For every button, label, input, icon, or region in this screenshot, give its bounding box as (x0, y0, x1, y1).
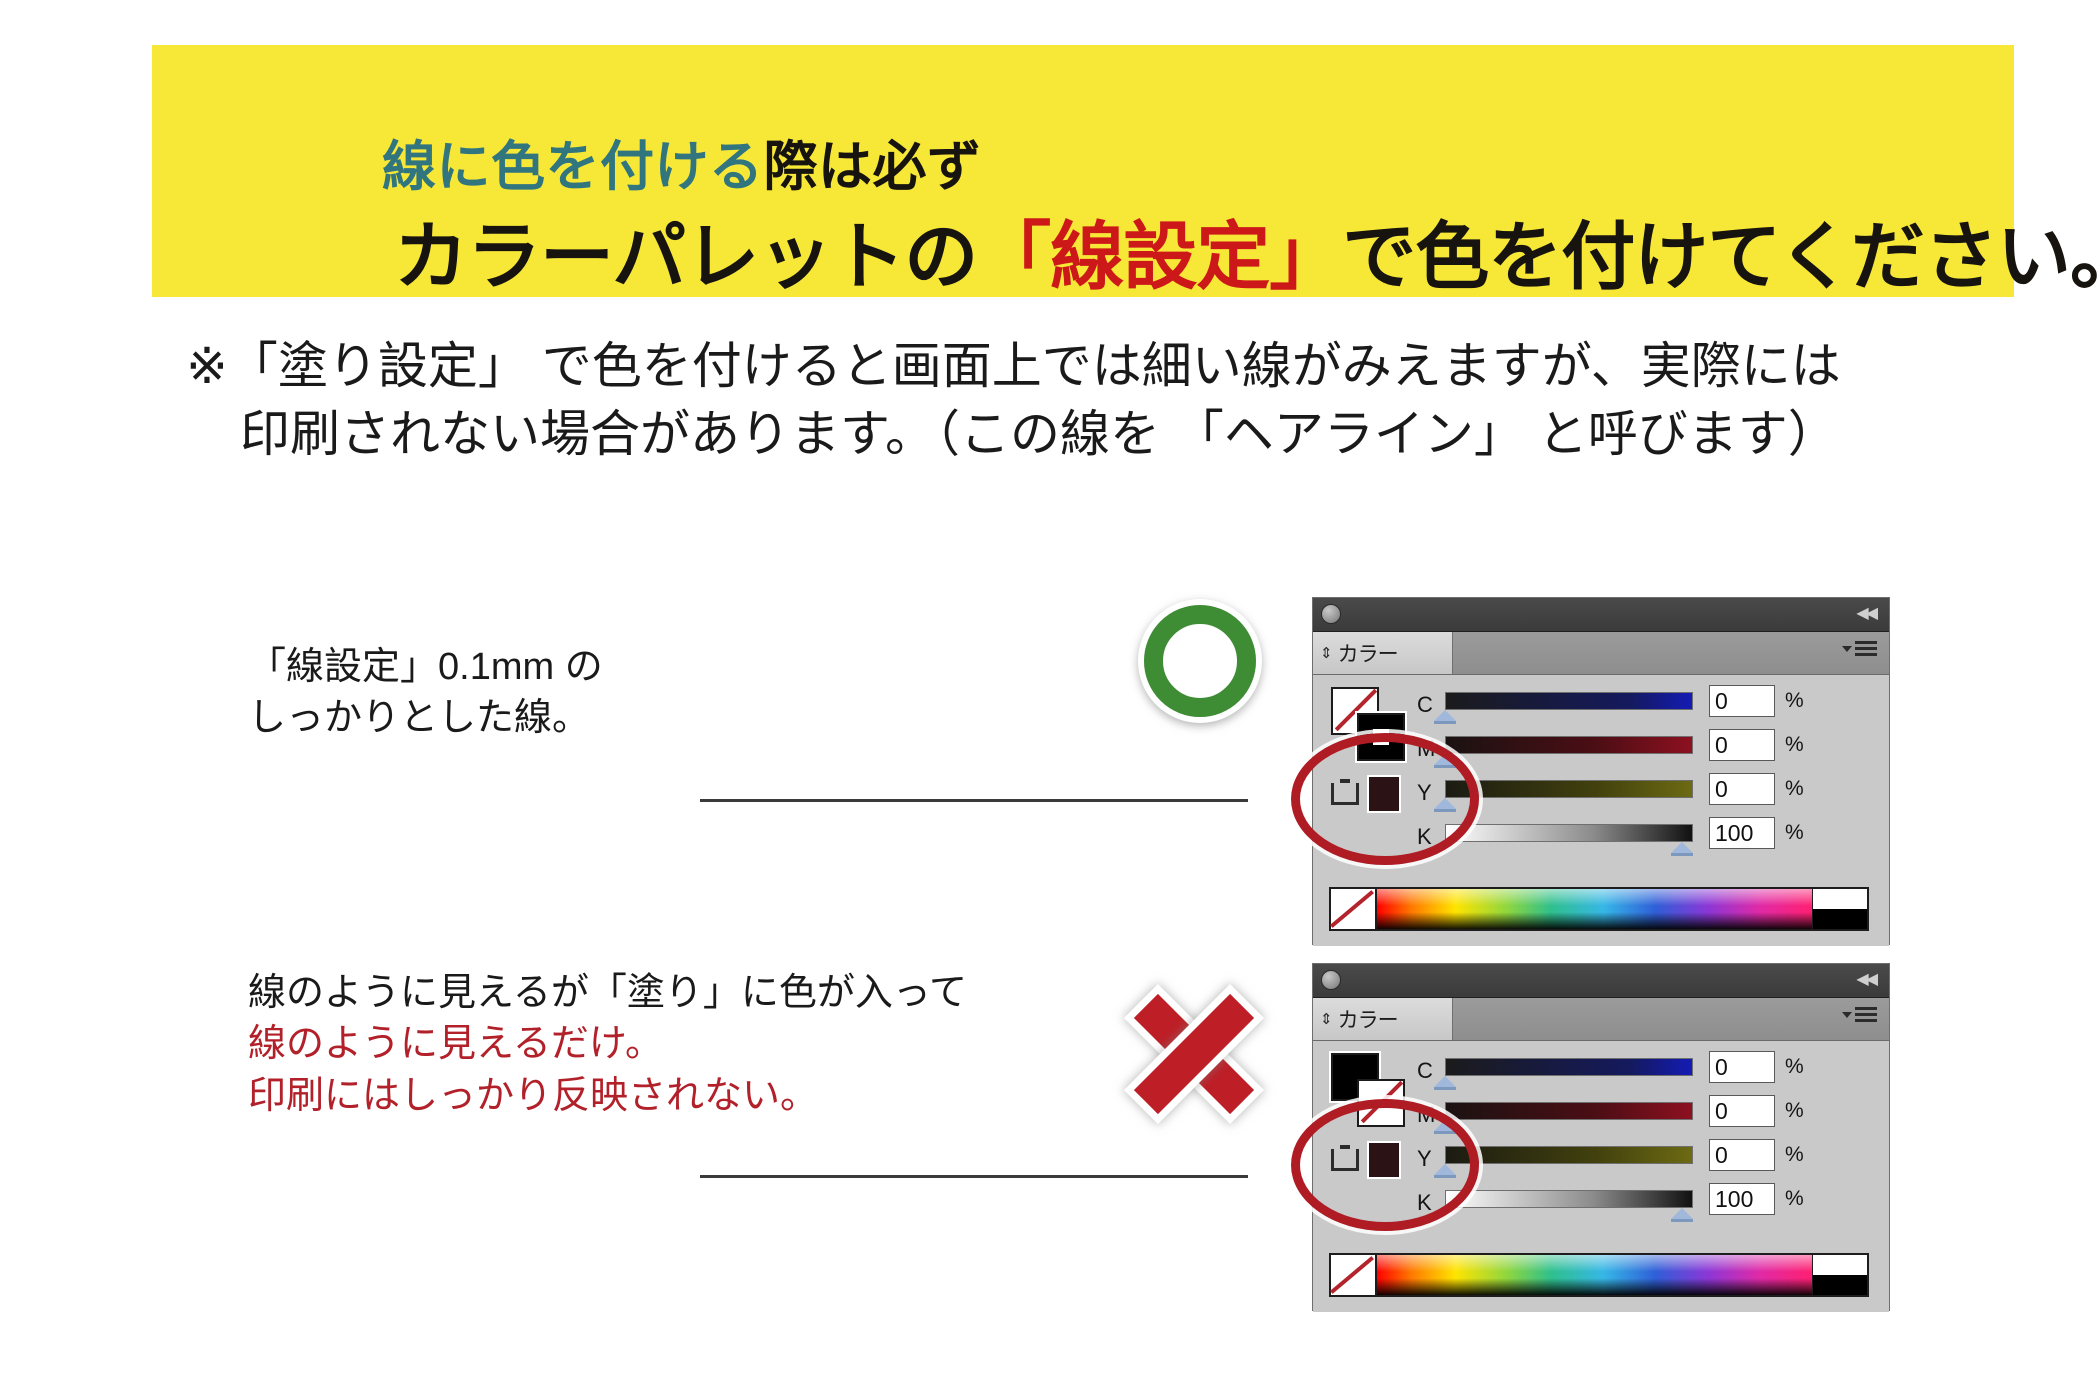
slider-track-y[interactable] (1445, 1146, 1693, 1164)
header-banner: 線に色を付ける際は必ず カラーパレットの「線設定」で色を付けてください。 (152, 45, 2014, 297)
slider-thumb-y[interactable] (1434, 798, 1456, 809)
slider-value-m[interactable]: 0 (1709, 729, 1775, 761)
fill-stroke-swatches[interactable] (1331, 687, 1413, 769)
slider-thumb-k[interactable] (1671, 1208, 1693, 1219)
example-1-desc-line-1: 「線設定」0.1mm の (248, 642, 603, 693)
example-2-sample-line (700, 1175, 1248, 1178)
note-line-2: 印刷されない場合があります。（この線を 「ヘアライン」 と呼びます） (186, 400, 1986, 468)
slider-label-m: M (1417, 1102, 1435, 1128)
slider-row-m[interactable]: M 0 % (1417, 733, 1869, 777)
slider-unit-c: % (1785, 1055, 1804, 1079)
slider-unit-k: % (1785, 1187, 1804, 1211)
banner-headline-large: カラーパレットの「線設定」で色を付けてください。 (394, 220, 2100, 294)
tab-color[interactable]: ⇕ カラー (1313, 998, 1453, 1040)
slider-unit-m: % (1785, 1099, 1804, 1123)
slider-label-c: C (1417, 692, 1433, 718)
slider-value-m[interactable]: 0 (1709, 1095, 1775, 1127)
slider-track-m[interactable] (1445, 736, 1693, 754)
slider-row-c[interactable]: C 0 % (1417, 689, 1869, 733)
slider-row-c[interactable]: C 0 % (1417, 1055, 1869, 1099)
none-swatch-icon[interactable] (1331, 1145, 1359, 1173)
slider-label-y: Y (1417, 780, 1432, 806)
slider-label-y: Y (1417, 1146, 1432, 1172)
tab-color-label: カラー (1338, 1004, 1398, 1034)
slider-track-m[interactable] (1445, 1102, 1693, 1120)
fill-stroke-swatches[interactable] (1331, 1053, 1413, 1135)
example-2-desc-line-2: 線のように見えるだけ。 (248, 1019, 967, 1070)
slider-thumb-m[interactable] (1434, 1120, 1456, 1131)
hamburger-icon (1855, 641, 1877, 656)
slider-value-y[interactable]: 0 (1709, 1139, 1775, 1171)
slider-label-c: C (1417, 1058, 1433, 1084)
tab-color[interactable]: ⇕ カラー (1313, 632, 1453, 674)
slider-value-k[interactable]: 100 (1709, 817, 1775, 849)
banner-headline-black-segment: 際は必ず (764, 137, 982, 197)
slider-track-y[interactable] (1445, 780, 1693, 798)
slider-track-c[interactable] (1445, 1058, 1693, 1076)
banner-large-red-segment: 「線設定」 (977, 215, 1342, 298)
slider-thumb-c[interactable] (1434, 710, 1456, 721)
panel-tab-bar[interactable]: ⇕ カラー (1313, 998, 1889, 1041)
slider-thumb-k[interactable] (1671, 842, 1693, 853)
chevron-down-icon (1842, 1012, 1852, 1018)
color-panel-stroke[interactable]: ◀◀ ⇕ カラー C 0 % M (1312, 597, 1890, 945)
slider-unit-y: % (1785, 777, 1804, 801)
slider-label-k: K (1417, 824, 1432, 850)
panel-title-bar[interactable]: ◀◀ (1313, 964, 1889, 998)
spectrum-ramp[interactable] (1377, 1255, 1812, 1295)
slider-track-c[interactable] (1445, 692, 1693, 710)
note-line-1: ※「塗り設定」 で色を付けると画面上では細い線がみえますが、実際には (186, 332, 1986, 400)
ng-cross-icon (1130, 990, 1258, 1118)
swatch-mini-icons[interactable] (1331, 1141, 1421, 1179)
example-2-description: 線のように見えるが「塗り」に色が入って 線のように見えるだけ。 印刷にはしっかり… (248, 968, 967, 1122)
slider-row-y[interactable]: Y 0 % (1417, 777, 1869, 821)
example-1-description: 「線設定」0.1mm の しっかりとした線。 (248, 642, 603, 745)
chevron-down-icon (1842, 646, 1852, 652)
collapse-double-arrow-icon[interactable]: ◀◀ (1856, 606, 1875, 622)
color-panel-fill[interactable]: ◀◀ ⇕ カラー C 0 % M (1312, 963, 1890, 1311)
spectrum-none-swatch[interactable] (1331, 1255, 1377, 1295)
slider-label-k: K (1417, 1190, 1432, 1216)
slider-row-m[interactable]: M 0 % (1417, 1099, 1869, 1143)
ok-ring-icon (1144, 605, 1256, 717)
spectrum-none-swatch[interactable] (1331, 889, 1377, 929)
example-1-desc-line-2: しっかりとした線。 (248, 693, 603, 744)
none-swatch-icon[interactable] (1331, 779, 1359, 807)
hamburger-icon (1855, 1007, 1877, 1022)
color-spectrum-bar[interactable] (1329, 1253, 1869, 1297)
stroke-swatch-none[interactable] (1357, 1079, 1405, 1127)
color-spectrum-bar[interactable] (1329, 887, 1869, 931)
panel-body: C 0 % M 0 % Y 0 % K 100 % (1313, 1041, 1889, 1312)
slider-value-c[interactable]: 0 (1709, 1051, 1775, 1083)
last-color-swatch-icon[interactable] (1367, 1141, 1401, 1179)
slider-thumb-c[interactable] (1434, 1076, 1456, 1087)
slider-thumb-y[interactable] (1434, 1164, 1456, 1175)
slider-unit-y: % (1785, 1143, 1804, 1167)
updown-arrows-icon: ⇕ (1320, 1012, 1333, 1027)
banner-large-segment-b: で色を付けてください。 (1342, 215, 2100, 298)
note-paragraph: ※「塗り設定」 で色を付けると画面上では細い線がみえますが、実際には 印刷されな… (186, 332, 1986, 468)
slider-unit-k: % (1785, 821, 1804, 845)
slider-row-k[interactable]: K 100 % (1417, 1187, 1869, 1231)
example-2-desc-line-1: 線のように見えるが「塗り」に色が入って (248, 968, 967, 1019)
slider-value-y[interactable]: 0 (1709, 773, 1775, 805)
slider-unit-m: % (1785, 733, 1804, 757)
spectrum-white-black-swatches[interactable] (1812, 889, 1867, 929)
collapse-double-arrow-icon[interactable]: ◀◀ (1856, 972, 1875, 988)
slider-unit-c: % (1785, 689, 1804, 713)
example-2-desc-line-3: 印刷にはしっかり反映されない。 (248, 1071, 967, 1122)
spectrum-ramp[interactable] (1377, 889, 1812, 929)
slider-label-m: M (1417, 736, 1435, 762)
panel-tab-bar[interactable]: ⇕ カラー (1313, 632, 1889, 675)
slider-row-k[interactable]: K 100 % (1417, 821, 1869, 865)
slider-track-k[interactable] (1445, 824, 1693, 842)
banner-large-segment-a: カラーパレットの (394, 215, 977, 298)
example-1-sample-line (700, 799, 1248, 802)
slider-value-k[interactable]: 100 (1709, 1183, 1775, 1215)
banner-headline-small: 線に色を付ける際は必ず (382, 140, 982, 194)
panel-grip-dot-icon[interactable] (1321, 604, 1341, 624)
banner-headline-teal-segment: 線に色を付ける (382, 137, 764, 197)
panel-menu-icon[interactable] (1842, 1007, 1877, 1022)
spectrum-white-black-swatches[interactable] (1812, 1255, 1867, 1295)
panel-menu-icon[interactable] (1842, 641, 1877, 656)
stroke-swatch-black[interactable] (1357, 713, 1405, 761)
panel-grip-dot-icon[interactable] (1321, 970, 1341, 990)
slider-value-c[interactable]: 0 (1709, 685, 1775, 717)
slider-thumb-m[interactable] (1434, 754, 1456, 765)
panel-title-bar[interactable]: ◀◀ (1313, 598, 1889, 632)
tab-color-label: カラー (1338, 638, 1398, 668)
slider-row-y[interactable]: Y 0 % (1417, 1143, 1869, 1187)
panel-body: C 0 % M 0 % Y 0 % K 100 % (1313, 675, 1889, 946)
updown-arrows-icon: ⇕ (1320, 646, 1333, 661)
last-color-swatch-icon[interactable] (1367, 775, 1401, 813)
swatch-mini-icons[interactable] (1331, 775, 1421, 813)
slider-track-k[interactable] (1445, 1190, 1693, 1208)
